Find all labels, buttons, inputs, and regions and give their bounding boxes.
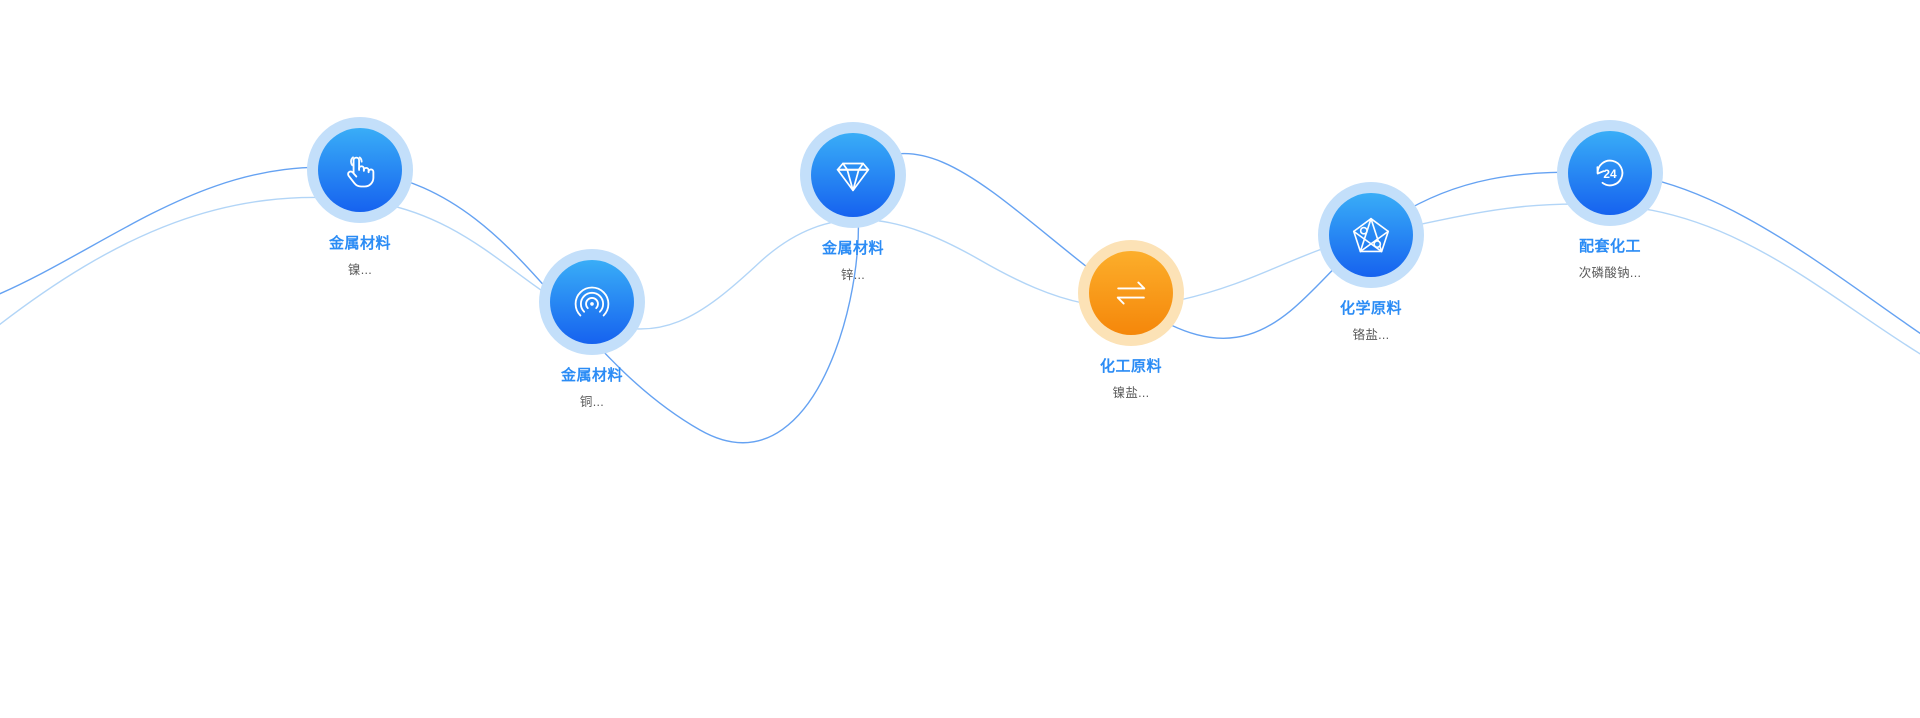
radar-signal-icon (569, 279, 615, 325)
node-subtitle: 镍... (329, 261, 391, 279)
node-disc (811, 133, 895, 217)
exchange-arrows-icon (1109, 271, 1153, 315)
node-subtitle: 次磷酸钠... (1579, 264, 1642, 282)
supply-chain-flow-canvas: 金属材料 镍... 金属材料 铜... (0, 0, 1920, 718)
diamond-gem-icon (830, 152, 876, 198)
node-caption: 化工原料 镍盐... (1100, 357, 1162, 402)
node-title: 配套化工 (1579, 237, 1642, 257)
node-disc (550, 260, 634, 344)
node-caption: 金属材料 铜... (561, 366, 623, 411)
node-disc (1329, 193, 1413, 277)
service-24h-icon: 24 (1588, 151, 1632, 195)
node-disc: 24 (1568, 131, 1652, 215)
node-title: 金属材料 (329, 234, 391, 254)
wave-connector-lines (0, 0, 1920, 718)
node-subtitle: 铬盐... (1340, 326, 1402, 344)
node-caption: 配套化工 次磷酸钠... (1579, 237, 1642, 282)
node-subtitle: 镍盐... (1100, 384, 1162, 402)
node-disc (1089, 251, 1173, 335)
node-subtitle: 铜... (561, 393, 623, 411)
pentagon-network-icon (1348, 212, 1394, 258)
node-title: 金属材料 (561, 366, 623, 386)
node-title: 化工原料 (1100, 357, 1162, 377)
node-caption: 金属材料 锌... (822, 239, 884, 284)
node-subtitle: 锌... (822, 266, 884, 284)
node-title: 金属材料 (822, 239, 884, 259)
touch-hand-icon (338, 148, 382, 192)
node-title: 化学原料 (1340, 299, 1402, 319)
node-caption: 化学原料 铬盐... (1340, 299, 1402, 344)
node-caption: 金属材料 镍... (329, 234, 391, 279)
svg-text:24: 24 (1603, 167, 1617, 181)
node-disc (318, 128, 402, 212)
